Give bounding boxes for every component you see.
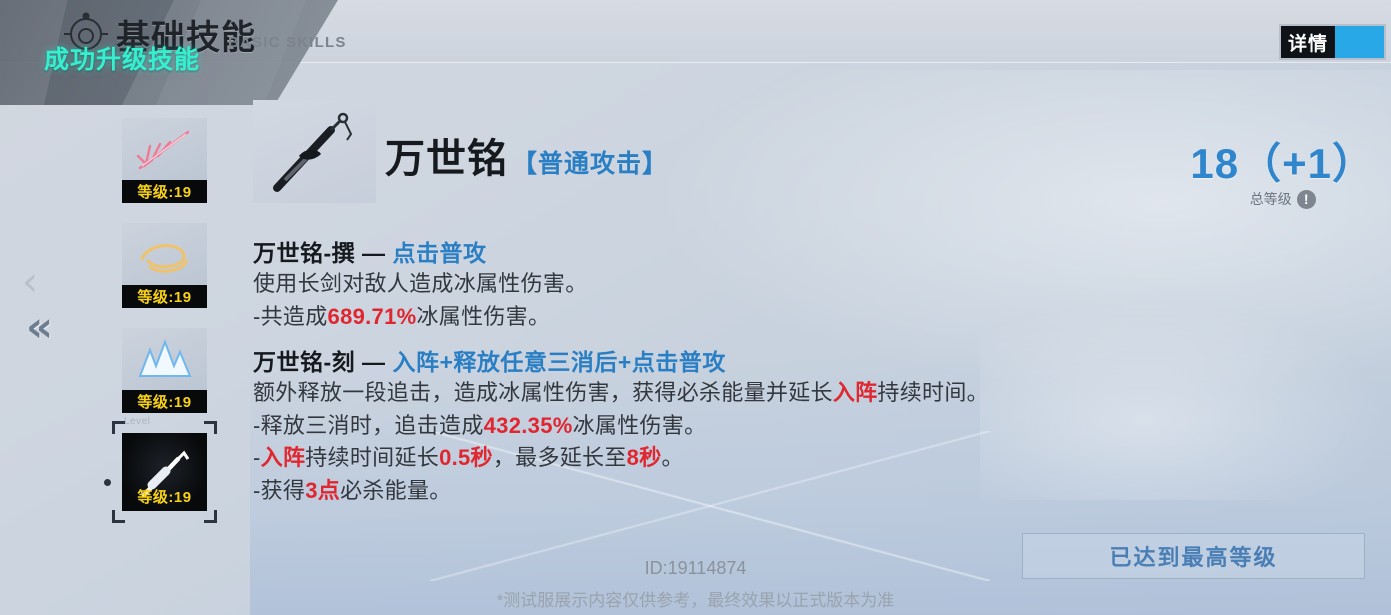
skill-section-heading: 万世铭-撰 — 点击普攻 [253,234,1253,268]
details-button[interactable]: 详情 [1279,24,1386,60]
details-button-label: 详情 [1281,29,1335,56]
skill-level-badge: 等级:19 [122,390,207,413]
skill-description-line: -获得3点必杀能量。 [253,475,1253,508]
details-button-accent [1335,26,1384,58]
description-text: -共造成 [253,304,328,329]
toast-message: 成功升级技能 [44,40,200,76]
skill-description-line: 使用长剑对敌人造成冰属性伤害。 [253,268,1253,301]
highlight-value: 689.71% [328,304,417,329]
highlight-value: 8秒 [627,445,662,470]
description-text: 必杀能量。 [340,478,452,503]
total-level-sub: 总等级 ! [1190,189,1375,209]
description-text: -释放三消时，追击造成 [253,413,484,438]
ice-skill-icon [122,328,207,390]
description-text: 。 [662,445,684,470]
skill-section-heading: 万世铭-刻 — 入阵+释放任意三消后+点击普攻 [253,343,1253,377]
disclaimer-note: *测试服展示内容仅供参考，最终效果以正式版本为准 [0,586,1391,611]
list-item[interactable]: Level 等级:19 [122,433,207,511]
skill-description-line: -入阵持续时间延长0.5秒，最多延长至8秒。 [253,442,1253,475]
description-text: 持续时间。 [877,380,989,405]
total-level-block: 18（+1） 总等级 ! [1190,130,1375,209]
highlight-value: 3点 [305,478,340,503]
info-icon[interactable]: ! [1297,190,1316,209]
list-item[interactable]: 等级:19 [122,328,207,413]
skill-level-badge: 等级:19 [122,485,207,508]
total-level-value: 18（+1） [1190,130,1375,191]
page-subtitle: BASIC SKILLS [228,34,347,51]
skill-section-name: 万世铭-撰 — [253,240,392,266]
skill-name: 万世铭 [385,126,508,184]
highlight-value: 入阵 [261,445,306,470]
chevron-left-icon[interactable]: ‹ [22,262,38,302]
total-level-label: 总等级 [1250,189,1292,209]
skill-section-condition: 入阵+释放任意三消后+点击普攻 [392,349,725,375]
feather-skill-icon [122,118,207,180]
skill-list: 等级:19 等级:19 等级:19 Level [122,118,210,531]
skill-title-row: 万世铭 【普通攻击】 [385,126,668,184]
highlight-value: 432.35% [484,413,573,438]
double-chevron-left-icon[interactable]: « [26,306,53,348]
skill-section-condition: 点击普攻 [392,240,486,266]
highlight-value: 入阵 [833,380,878,405]
description-text: 持续时间延长 [305,445,439,470]
skill-level-badge: 等级:19 [122,180,207,203]
description-text: -获得 [253,478,305,503]
skill-type-tag: 【普通攻击】 [512,144,668,180]
description-text: 冰属性伤害。 [416,304,550,329]
list-item[interactable]: 等级:19 [122,118,207,203]
selection-dot [104,479,111,486]
skill-icon-panel [253,100,376,203]
list-item[interactable]: 等级:19 [122,223,207,308]
skill-description-line: 额外释放一段追击，造成冰属性伤害，获得必杀能量并延长入阵持续时间。 [253,377,1253,410]
skill-description-line: -共造成689.71%冰属性伤害。 [253,301,1253,334]
max-level-button[interactable]: 已达到最高等级 [1022,533,1365,579]
description-text: 使用长剑对敌人造成冰属性伤害。 [253,271,588,296]
spiral-skill-icon [122,223,207,285]
highlight-value: 0.5秒 [439,445,493,470]
description-text: ，最多延长至 [493,445,627,470]
max-level-button-label: 已达到最高等级 [1109,540,1277,572]
skill-section-name: 万世铭-刻 — [253,349,392,375]
skill-level-badge: 等级:19 [122,285,207,308]
description-text: - [253,445,261,470]
description-text: 冰属性伤害。 [573,413,707,438]
skill-description: 万世铭-撰 — 点击普攻使用长剑对敌人造成冰属性伤害。-共造成689.71%冰属… [253,224,1253,507]
skill-description-line: -释放三消时，追击造成432.35%冰属性伤害。 [253,410,1253,443]
description-text: 额外释放一段追击，造成冰属性伤害，获得必杀能量并延长 [253,380,833,405]
sword-icon [253,100,376,203]
